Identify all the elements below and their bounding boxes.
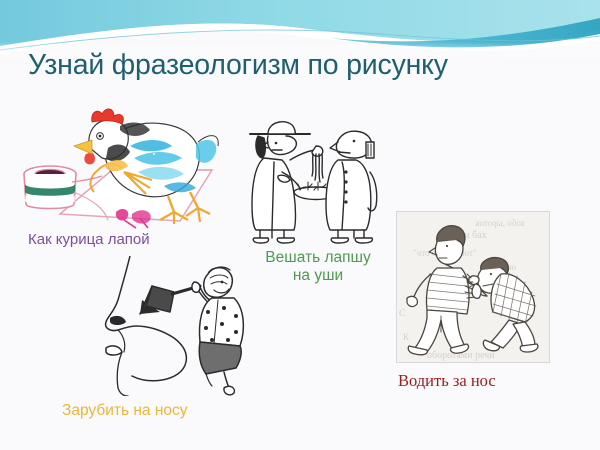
chef-collar-tab [366, 142, 374, 158]
wave-accent-line [0, 30, 600, 50]
caption-nose-lead: Водить за нос [398, 371, 588, 390]
boy-shoe [224, 386, 234, 394]
svg-text:К: К [403, 332, 410, 342]
svg-text:хобо ,ыроток: хобо ,ыроток [475, 218, 525, 228]
boy-jacket [200, 298, 244, 346]
chef-button [344, 170, 347, 173]
nose-lead-svg: хобо ,ыроток Он бах "что объясняют" полн… [397, 212, 549, 362]
torso-leading-boy [426, 268, 469, 314]
boy-hands [192, 282, 200, 292]
hat-crown [268, 122, 295, 134]
wave-shape-ribbon [330, 18, 600, 47]
slide-canvas: Узнай фразеологизм по рисунку [0, 0, 600, 450]
fist [407, 296, 417, 306]
page-title: Узнай фразеологизм по рисунку [28, 50, 573, 81]
illustration-boy-chopping-giant-nose [96, 256, 271, 396]
shoe-left [253, 238, 268, 243]
noodle-strand [315, 154, 316, 180]
scan-frame: хобо ,ыроток Он бах "что объясняют" полн… [396, 211, 550, 363]
noodles-scene-svg [238, 112, 383, 244]
chef-jacket [326, 160, 371, 230]
chicken-writing-svg [12, 96, 222, 231]
caption-chicken: Как курица лапой [28, 231, 218, 249]
wave-shape-top [0, 0, 600, 46]
svg-text:С: С [399, 308, 405, 318]
illustration-chicken-writing-with-quill [12, 96, 222, 231]
face-left-man [267, 136, 296, 155]
axe-nose-svg [96, 256, 271, 396]
inkwell [24, 166, 76, 209]
chicken-beak [74, 140, 92, 154]
caption-axe-nose: Зарубить на носу [62, 402, 272, 420]
boy-shorts [199, 342, 241, 374]
illustration-boy-leading-boy-by-nose: хобо ,ыроток Он бах "что объясняют" полн… [396, 211, 550, 363]
nostril [110, 316, 126, 325]
scribble-mark [116, 209, 128, 220]
illustration-man-hanging-noodles [238, 112, 383, 244]
